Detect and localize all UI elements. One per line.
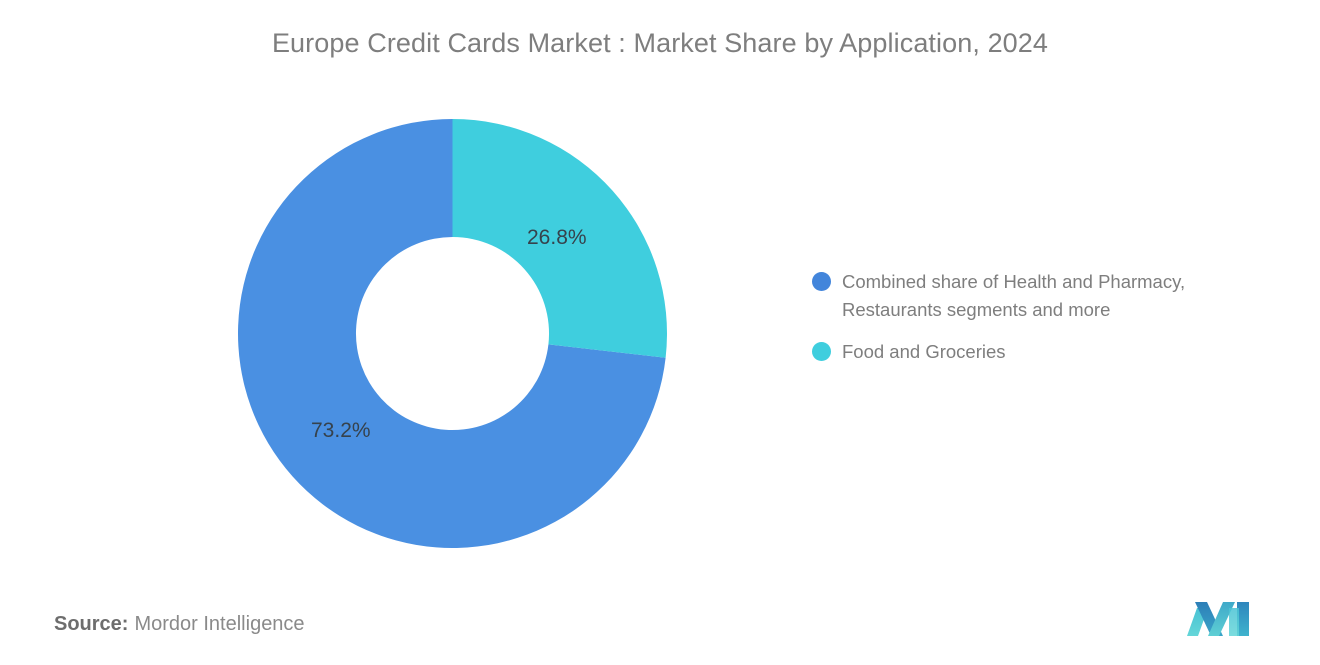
source-attribution: Source:Mordor Intelligence [54,613,305,636]
logo-svg [1185,598,1257,640]
legend-item-food-and-groceries[interactable]: Food and Groceries [812,338,1282,366]
donut-chart [238,119,667,548]
chart-legend: Combined share of Health and Pharmacy, R… [812,268,1282,380]
source-label: Source: [54,613,128,635]
donut-chart-svg [238,119,667,548]
page-title: Europe Credit Cards Market : Market Shar… [0,28,1320,59]
mordor-intelligence-logo-icon [1185,598,1257,640]
legend-swatch-icon [812,272,831,291]
legend-item-label: Combined share of Health and Pharmacy, R… [842,268,1260,324]
data-label-food-and-groceries: 26.8% [527,226,587,250]
data-label-combined-share: 73.2% [311,419,371,443]
legend-item-label: Food and Groceries [842,338,1006,366]
legend-swatch-icon [812,342,831,361]
chart-canvas: Europe Credit Cards Market : Market Shar… [0,0,1320,665]
source-value: Mordor Intelligence [134,613,304,635]
legend-item-combined-share[interactable]: Combined share of Health and Pharmacy, R… [812,268,1282,324]
